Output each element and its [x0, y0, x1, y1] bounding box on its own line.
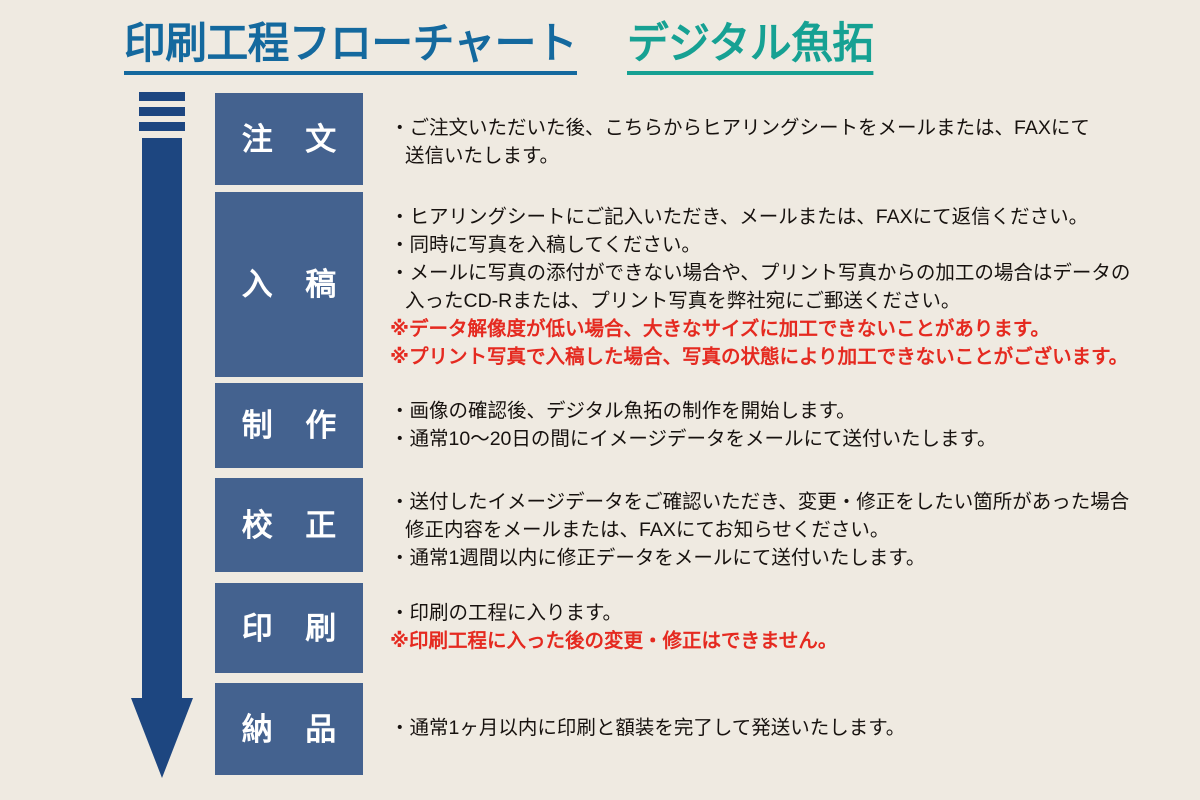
description-line: 修正内容をメールまたは、FAXにてお知らせください。 [390, 516, 1200, 544]
stage-row: 制 作 ・画像の確認後、デジタル魚拓の制作を開始します。 ・通常10〜20日の間… [215, 383, 1200, 468]
stage-row: 校 正 ・送付したイメージデータをご確認いただき、変更・修正をしたい箇所があった… [215, 478, 1200, 572]
description-line: ・同時に写真を入稿してください。 [390, 231, 1200, 259]
description-line: ・通常1ヶ月以内に印刷と額装を完了して発送いたします。 [390, 714, 1200, 742]
stage-box-delivery: 納 品 [215, 683, 363, 775]
description-line: ・送付したイメージデータをご確認いただき、変更・修正をしたい箇所があった場合 [390, 488, 1200, 516]
stage-box-production: 制 作 [215, 383, 363, 468]
stage-description: ・ヒアリングシートにご記入いただき、メールまたは、FAXにて返信ください。 ・同… [390, 203, 1200, 371]
stage-row: 注 文 ・ご注文いただいた後、こちらからヒアリングシートをメールまたは、FAXに… [215, 93, 1200, 185]
description-line: ・ご注文いただいた後、こちらからヒアリングシートをメールまたは、FAXにて [390, 114, 1200, 142]
stage-box-printing: 印 刷 [215, 583, 363, 673]
warning-line: ※プリント写真で入稿した場合、写真の状態により加工できないことがございます。 [390, 343, 1200, 371]
stage-label: 校 正 [230, 510, 349, 541]
description-line: ・メールに写真の添付ができない場合や、プリント写真からの加工の場合はデータの [390, 259, 1200, 287]
stage-row: 納 品 ・通常1ヶ月以内に印刷と額装を完了して発送いたします。 [215, 683, 1200, 775]
stage-row: 入 稿 ・ヒアリングシートにご記入いただき、メールまたは、FAXにて返信ください… [215, 192, 1200, 377]
description-line: 送信いたします。 [390, 142, 1200, 170]
flowchart-page: 印刷工程フローチャートデジタル魚拓 注 文 ・ご注文いただいた後、こちらからヒア… [0, 0, 1200, 800]
stage-box-proofreading: 校 正 [215, 478, 363, 572]
stage-description: ・送付したイメージデータをご確認いただき、変更・修正をしたい箇所があった場合 修… [390, 488, 1200, 572]
stage-row: 印 刷 ・印刷の工程に入ります。 ※印刷工程に入った後の変更・修正はできません。 [215, 583, 1200, 673]
stage-box-order: 注 文 [215, 93, 363, 185]
stage-label: 納 品 [230, 714, 349, 745]
description-line: ・通常1週間以内に修正データをメールにて送付いたします。 [390, 544, 1200, 572]
warning-line: ※データ解像度が低い場合、大きなサイズに加工できないことがあります。 [390, 315, 1200, 343]
stage-description: ・通常1ヶ月以内に印刷と額装を完了して発送いたします。 [390, 714, 1200, 742]
stage-label: 制 作 [230, 410, 349, 441]
stage-rows: 注 文 ・ご注文いただいた後、こちらからヒアリングシートをメールまたは、FAXに… [0, 0, 1200, 800]
stage-label: 注 文 [230, 124, 349, 155]
description-line: ・通常10〜20日の間にイメージデータをメールにて送付いたします。 [390, 425, 1200, 453]
warning-line: ※印刷工程に入った後の変更・修正はできません。 [390, 627, 1200, 655]
stage-description: ・ご注文いただいた後、こちらからヒアリングシートをメールまたは、FAXにて 送信… [390, 114, 1200, 170]
description-line: ・画像の確認後、デジタル魚拓の制作を開始します。 [390, 397, 1200, 425]
stage-box-submission: 入 稿 [215, 192, 363, 377]
stage-description: ・画像の確認後、デジタル魚拓の制作を開始します。 ・通常10〜20日の間にイメー… [390, 397, 1200, 453]
stage-label: 入 稿 [230, 269, 349, 300]
description-line: ・印刷の工程に入ります。 [390, 599, 1200, 627]
description-line: 入ったCD-Rまたは、プリント写真を弊社宛にご郵送ください。 [390, 287, 1200, 315]
stage-description: ・印刷の工程に入ります。 ※印刷工程に入った後の変更・修正はできません。 [390, 599, 1200, 655]
description-line: ・ヒアリングシートにご記入いただき、メールまたは、FAXにて返信ください。 [390, 203, 1200, 231]
stage-label: 印 刷 [230, 613, 349, 644]
